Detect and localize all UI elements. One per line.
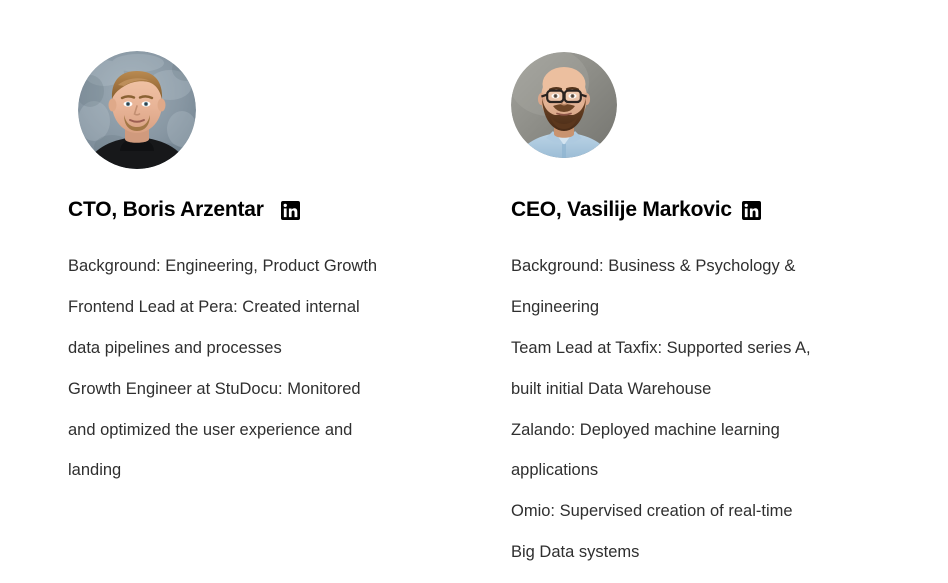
- bio-line: Big Data systems: [511, 542, 863, 562]
- bio-line: Frontend Lead at Pera: Created internal: [68, 297, 413, 317]
- profile-bio-cto: Background: Engineering, Product Growth …: [68, 236, 413, 501]
- profile-name-row-ceo: CEO, Vasilije Markovic: [511, 197, 761, 223]
- bio-line: Team Lead at Taxfix: Supported series A,: [511, 338, 863, 358]
- bio-line: Omio: Supervised creation of real-time: [511, 501, 863, 521]
- profile-name-cto: CTO, Boris Arzentar: [68, 197, 264, 223]
- bio-line: landing: [68, 460, 413, 480]
- avatar-boris-arzentar: [78, 51, 196, 169]
- bio-line: and optimized the user experience and: [68, 420, 413, 440]
- bio-line: data pipelines and processes: [68, 338, 413, 358]
- linkedin-icon[interactable]: [281, 201, 300, 220]
- bio-line: built initial Data Warehouse: [511, 379, 863, 399]
- bio-line: Background: Business & Psychology &: [511, 256, 863, 276]
- profile-bio-ceo: Background: Business & Psychology & Engi…: [511, 236, 863, 583]
- profile-name-row-cto: CTO, Boris Arzentar: [68, 197, 300, 223]
- linkedin-icon[interactable]: [742, 201, 761, 220]
- bio-line: Zalando: Deployed machine learning: [511, 420, 863, 440]
- bio-line: Engineering: [511, 297, 863, 317]
- team-profiles-section: CTO, Boris Arzentar Background: Engineer…: [0, 0, 948, 412]
- bio-line: applications: [511, 460, 863, 480]
- bio-line: Background: Engineering, Product Growth: [68, 256, 413, 276]
- bio-line: Growth Engineer at StuDocu: Monitored: [68, 379, 413, 399]
- avatar-vasilije-markovic: [511, 52, 617, 158]
- profile-name-ceo: CEO, Vasilije Markovic: [511, 197, 732, 223]
